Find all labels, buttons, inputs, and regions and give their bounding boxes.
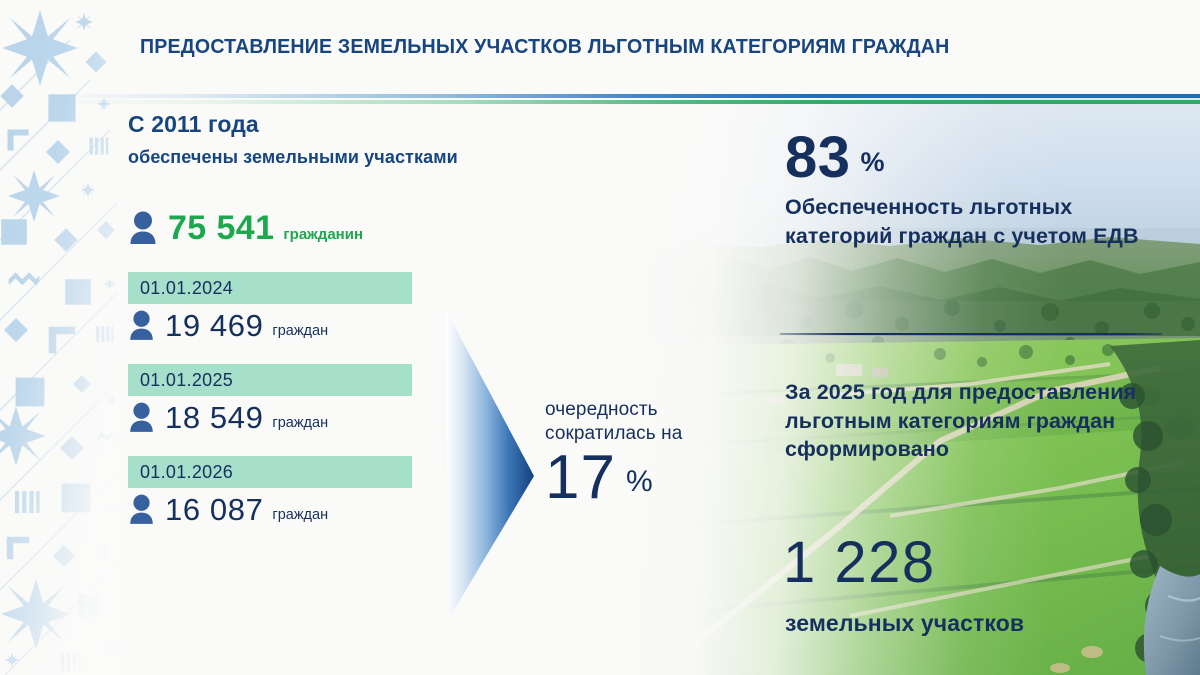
person-icon: [128, 493, 155, 526]
total-provided-stat: 75 541 гражданин: [128, 210, 428, 246]
date-bar-2026: 01.01.2026: [128, 456, 412, 488]
since-subheading: обеспечены земельными участками: [128, 147, 428, 168]
callout-percent-symbol: %: [626, 465, 653, 506]
callout-percent: 17 %: [545, 449, 725, 506]
queue-unit-2025: граждан: [272, 415, 328, 434]
header-rule-green: [42, 100, 1200, 104]
queue-stat-2026: 16 087 граждан: [128, 493, 428, 526]
date-label-2025: 01.01.2025: [140, 370, 233, 391]
date-label-2026: 01.01.2026: [140, 462, 233, 483]
coverage-percent: 83 %: [785, 132, 1185, 184]
person-icon: [128, 210, 158, 246]
right-statistics-column: 83 % Обеспеченность льготных категорий г…: [785, 132, 1185, 250]
person-icon: [128, 309, 155, 342]
header-rule-blue: [42, 94, 1200, 98]
coverage-percent-symbol: %: [861, 147, 885, 184]
arrow-right-icon: [432, 300, 542, 635]
page-title: ПРЕДОСТАВЛЕНИЕ ЗЕМЕЛЬНЫХ УЧАСТКОВ ЛЬГОТН…: [140, 35, 949, 59]
total-provided-value: 75 541: [168, 211, 274, 245]
queue-unit-2026: граждан: [272, 507, 328, 526]
formed-parcels-description: За 2025 год для предоставления льготным …: [785, 378, 1185, 464]
coverage-description: Обеспеченность льготных категорий гражда…: [785, 193, 1185, 250]
callout-percent-value: 17: [545, 449, 616, 506]
person-icon: [128, 401, 155, 434]
right-section-divider: [780, 333, 1162, 335]
queue-unit-2024: граждан: [272, 323, 328, 342]
left-statistics-column: С 2011 года обеспечены земельными участк…: [128, 112, 428, 526]
infographic-canvas: ПРЕДОСТАВЛЕНИЕ ЗЕМЕЛЬНЫХ УЧАСТКОВ ЛЬГОТН…: [0, 0, 1200, 675]
formed-parcels-value: 1 228: [783, 535, 936, 590]
coverage-percent-value: 83: [785, 132, 851, 184]
queue-value-2026: 16 087: [165, 494, 263, 525]
since-heading: С 2011 года: [128, 112, 428, 137]
date-bar-2024: 01.01.2024: [128, 272, 412, 304]
callout-line-1: очередность: [545, 398, 725, 422]
queue-value-2024: 19 469: [165, 310, 263, 341]
queue-stat-2025: 18 549 граждан: [128, 401, 428, 434]
formed-parcels-unit: земельных участков: [785, 610, 1024, 637]
queue-reduction-callout: очередность сократилась на 17 %: [545, 398, 725, 506]
total-provided-unit: гражданин: [283, 226, 363, 246]
queue-stat-2024: 19 469 граждан: [128, 309, 428, 342]
date-bar-2025: 01.01.2025: [128, 364, 412, 396]
date-label-2024: 01.01.2024: [140, 278, 233, 299]
queue-value-2025: 18 549: [165, 402, 263, 433]
